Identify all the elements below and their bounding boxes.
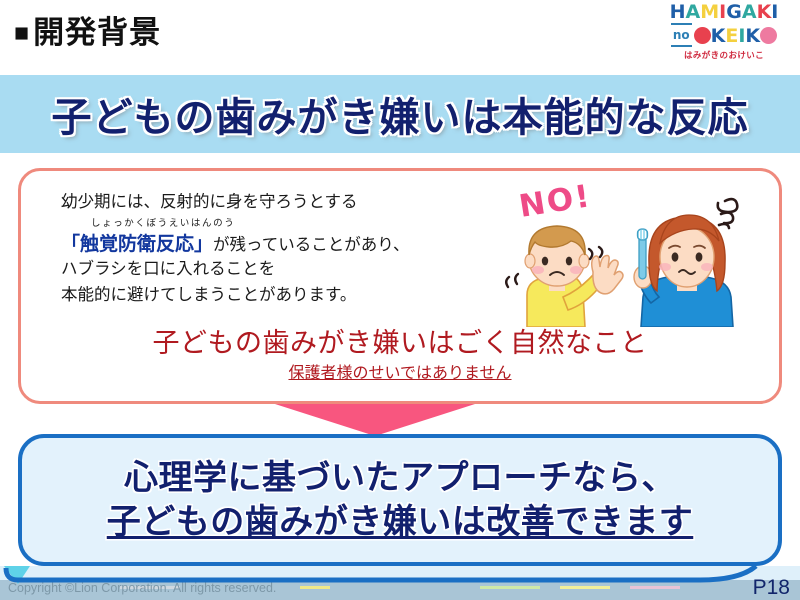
- logo-letter: H: [670, 3, 686, 22]
- logo-letter: K: [757, 3, 772, 22]
- logo-line-hamigaki: HAMIGAKI: [654, 3, 794, 22]
- logo-subtitle: はみがきのおけいこ: [654, 49, 794, 61]
- no-exclamation-text: NO!: [517, 178, 594, 225]
- explanation-line-3: ハブラシを口に入れることを: [61, 256, 481, 282]
- solution-panel: 心理学に基づいたアプローチなら、 子どもの歯みがき嫌いは改善できます: [18, 434, 782, 566]
- logo-dot-o: [760, 27, 777, 44]
- explanation-line-4: 本能的に避けてしまうことがあります。: [61, 282, 481, 308]
- down-arrow-icon: [275, 404, 475, 436]
- logo-letter: K: [711, 26, 726, 46]
- copyright-text: Copyright ©Lion Corporation. All rights …: [8, 581, 276, 595]
- child-hand: [592, 256, 623, 294]
- explanation-line-1: 幼少期には、反射的に身を守ろうとする: [61, 189, 481, 215]
- logo-letter: E: [725, 26, 738, 46]
- svg-text:NO!: NO!: [517, 178, 594, 225]
- conclusion-sub-text: 保護者様のせいではありません: [21, 359, 779, 383]
- parent-figure: [634, 215, 733, 327]
- slide-header: ■開発背景 HAMIGAKI noKEIK はみがきのおけいこ: [0, 0, 800, 75]
- motion-marks-left: [506, 274, 518, 287]
- headline-banner: 子どもの歯みがき嫌いは本能的な反応: [0, 75, 800, 153]
- logo-line-okeiko: noKEIK: [654, 23, 794, 47]
- logo-letter: I: [738, 26, 745, 46]
- logo-letter: G: [726, 3, 742, 22]
- explanation-panel: 幼少期には、反射的に身を守ろうとする しょっかくぼうえいはんのう 「触覚防衛反応…: [18, 168, 782, 404]
- slide-footer: Copyright ©Lion Corporation. All rights …: [0, 566, 800, 600]
- ruby-row: しょっかくぼうえいはんのう: [61, 216, 481, 229]
- logo-letter: A: [742, 3, 757, 22]
- page-title-text: 開発背景: [33, 15, 161, 50]
- anger-spiral-icon: [718, 199, 738, 228]
- page-title: ■開発背景: [14, 17, 161, 48]
- child-figure: [506, 226, 623, 327]
- logo-dot-o: [694, 27, 711, 44]
- logo-letter: A: [686, 3, 701, 22]
- logo-letter: I: [719, 3, 726, 22]
- logo-letter: K: [745, 26, 760, 46]
- explanation-paragraph: 幼少期には、反射的に身を守ろうとする しょっかくぼうえいはんのう 「触覚防衛反応…: [61, 189, 481, 308]
- ruby-text: しょっかくぼうえいはんのう: [91, 215, 235, 229]
- solution-line-2: 子どもの歯みがき嫌いは改善できます: [107, 500, 694, 544]
- brand-logo: HAMIGAKI noKEIK はみがきのおけいこ: [654, 3, 794, 61]
- headline-banner-text: 子どもの歯みがき嫌いは本能的な反応: [52, 85, 749, 143]
- page-number: P18: [753, 576, 790, 600]
- solution-line-1: 心理学に基づいたアプローチなら、: [124, 456, 676, 500]
- explanation-line-2-rest: が残っていることがあり、: [213, 236, 410, 254]
- conclusion-main-text: 子どもの歯みがき嫌いはごく自然なこと: [21, 321, 779, 360]
- logo-letter: I: [771, 3, 778, 22]
- child-refusing-toothbrush-illustration: NO!: [493, 177, 773, 327]
- logo-letter: M: [700, 3, 719, 22]
- term-highlight: 「触覚防衛反応」: [61, 234, 213, 255]
- bullet-square-icon: ■: [14, 19, 30, 47]
- explanation-line-2: 「触覚防衛反応」が残っていることがあり、: [61, 229, 481, 256]
- logo-no-badge: no: [671, 23, 692, 47]
- toothbrush-icon: [638, 229, 648, 279]
